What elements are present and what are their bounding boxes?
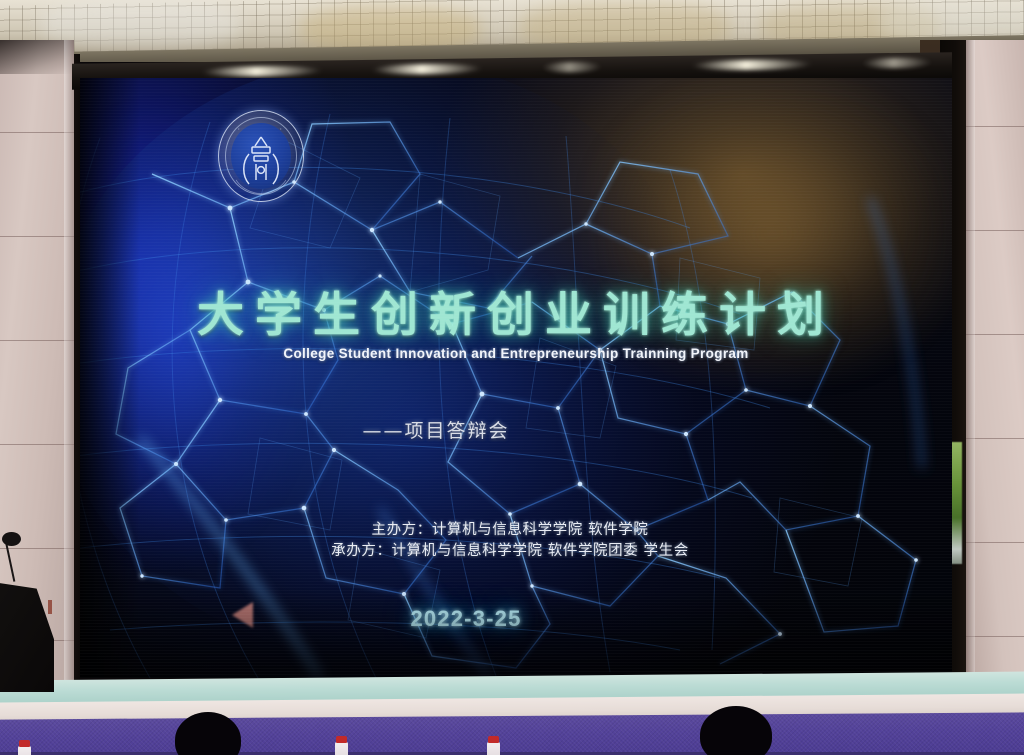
- organizer-host: 主办方：计算机与信息科学学院 软件学院: [80, 520, 940, 541]
- podium-accent: [48, 600, 52, 614]
- pillar-shadow: [0, 40, 74, 74]
- seal-emblem-glyph: ••: [218, 110, 304, 202]
- pillar-edge-highlight: [64, 40, 74, 690]
- bottle-cap: [19, 740, 30, 747]
- water-bottle: [335, 742, 348, 755]
- ceiling-downlight: [202, 65, 322, 77]
- ceiling-downlight: [372, 63, 482, 74]
- gooseneck-microphone: [2, 532, 21, 546]
- ceiling-downlight: [692, 59, 812, 71]
- organizer-coordinator: 承办方：计算机与信息科学学院 软件学院团委 学生会: [80, 541, 940, 562]
- bottle-cap: [336, 736, 347, 743]
- audience-head-silhouette: [700, 706, 772, 755]
- university-seal: ••: [218, 110, 304, 202]
- slide-title-chinese: 大学生创新创业训练计划: [80, 276, 952, 345]
- stage-front-purple: [0, 712, 1024, 755]
- screen-bottom-shadow: [80, 588, 952, 678]
- stage-fabric-texture: [0, 712, 1024, 755]
- bottle-cap: [488, 736, 499, 743]
- auditorium-scene: •• 大学生创新创业训练计划 College Student Innovatio…: [0, 0, 1024, 755]
- water-bottle: [487, 742, 500, 755]
- svg-text:•: •: [238, 126, 240, 131]
- organizer-block: 主办方：计算机与信息科学学院 软件学院 承办方：计算机与信息科学学院 软件学院团…: [80, 520, 952, 562]
- ceiling-downlight: [542, 62, 602, 73]
- stone-pillar-right: [966, 40, 1024, 690]
- pillar-edge-highlight: [966, 40, 975, 690]
- svg-text:•: •: [280, 126, 282, 131]
- slide-title-english: College Student Innovation and Entrepren…: [80, 346, 952, 361]
- led-screen: •• 大学生创新创业训练计划 College Student Innovatio…: [80, 78, 952, 678]
- water-bottle: [18, 746, 31, 755]
- slide-subtitle: ——项目答辩会: [80, 416, 952, 443]
- ceiling-downlight: [862, 58, 932, 69]
